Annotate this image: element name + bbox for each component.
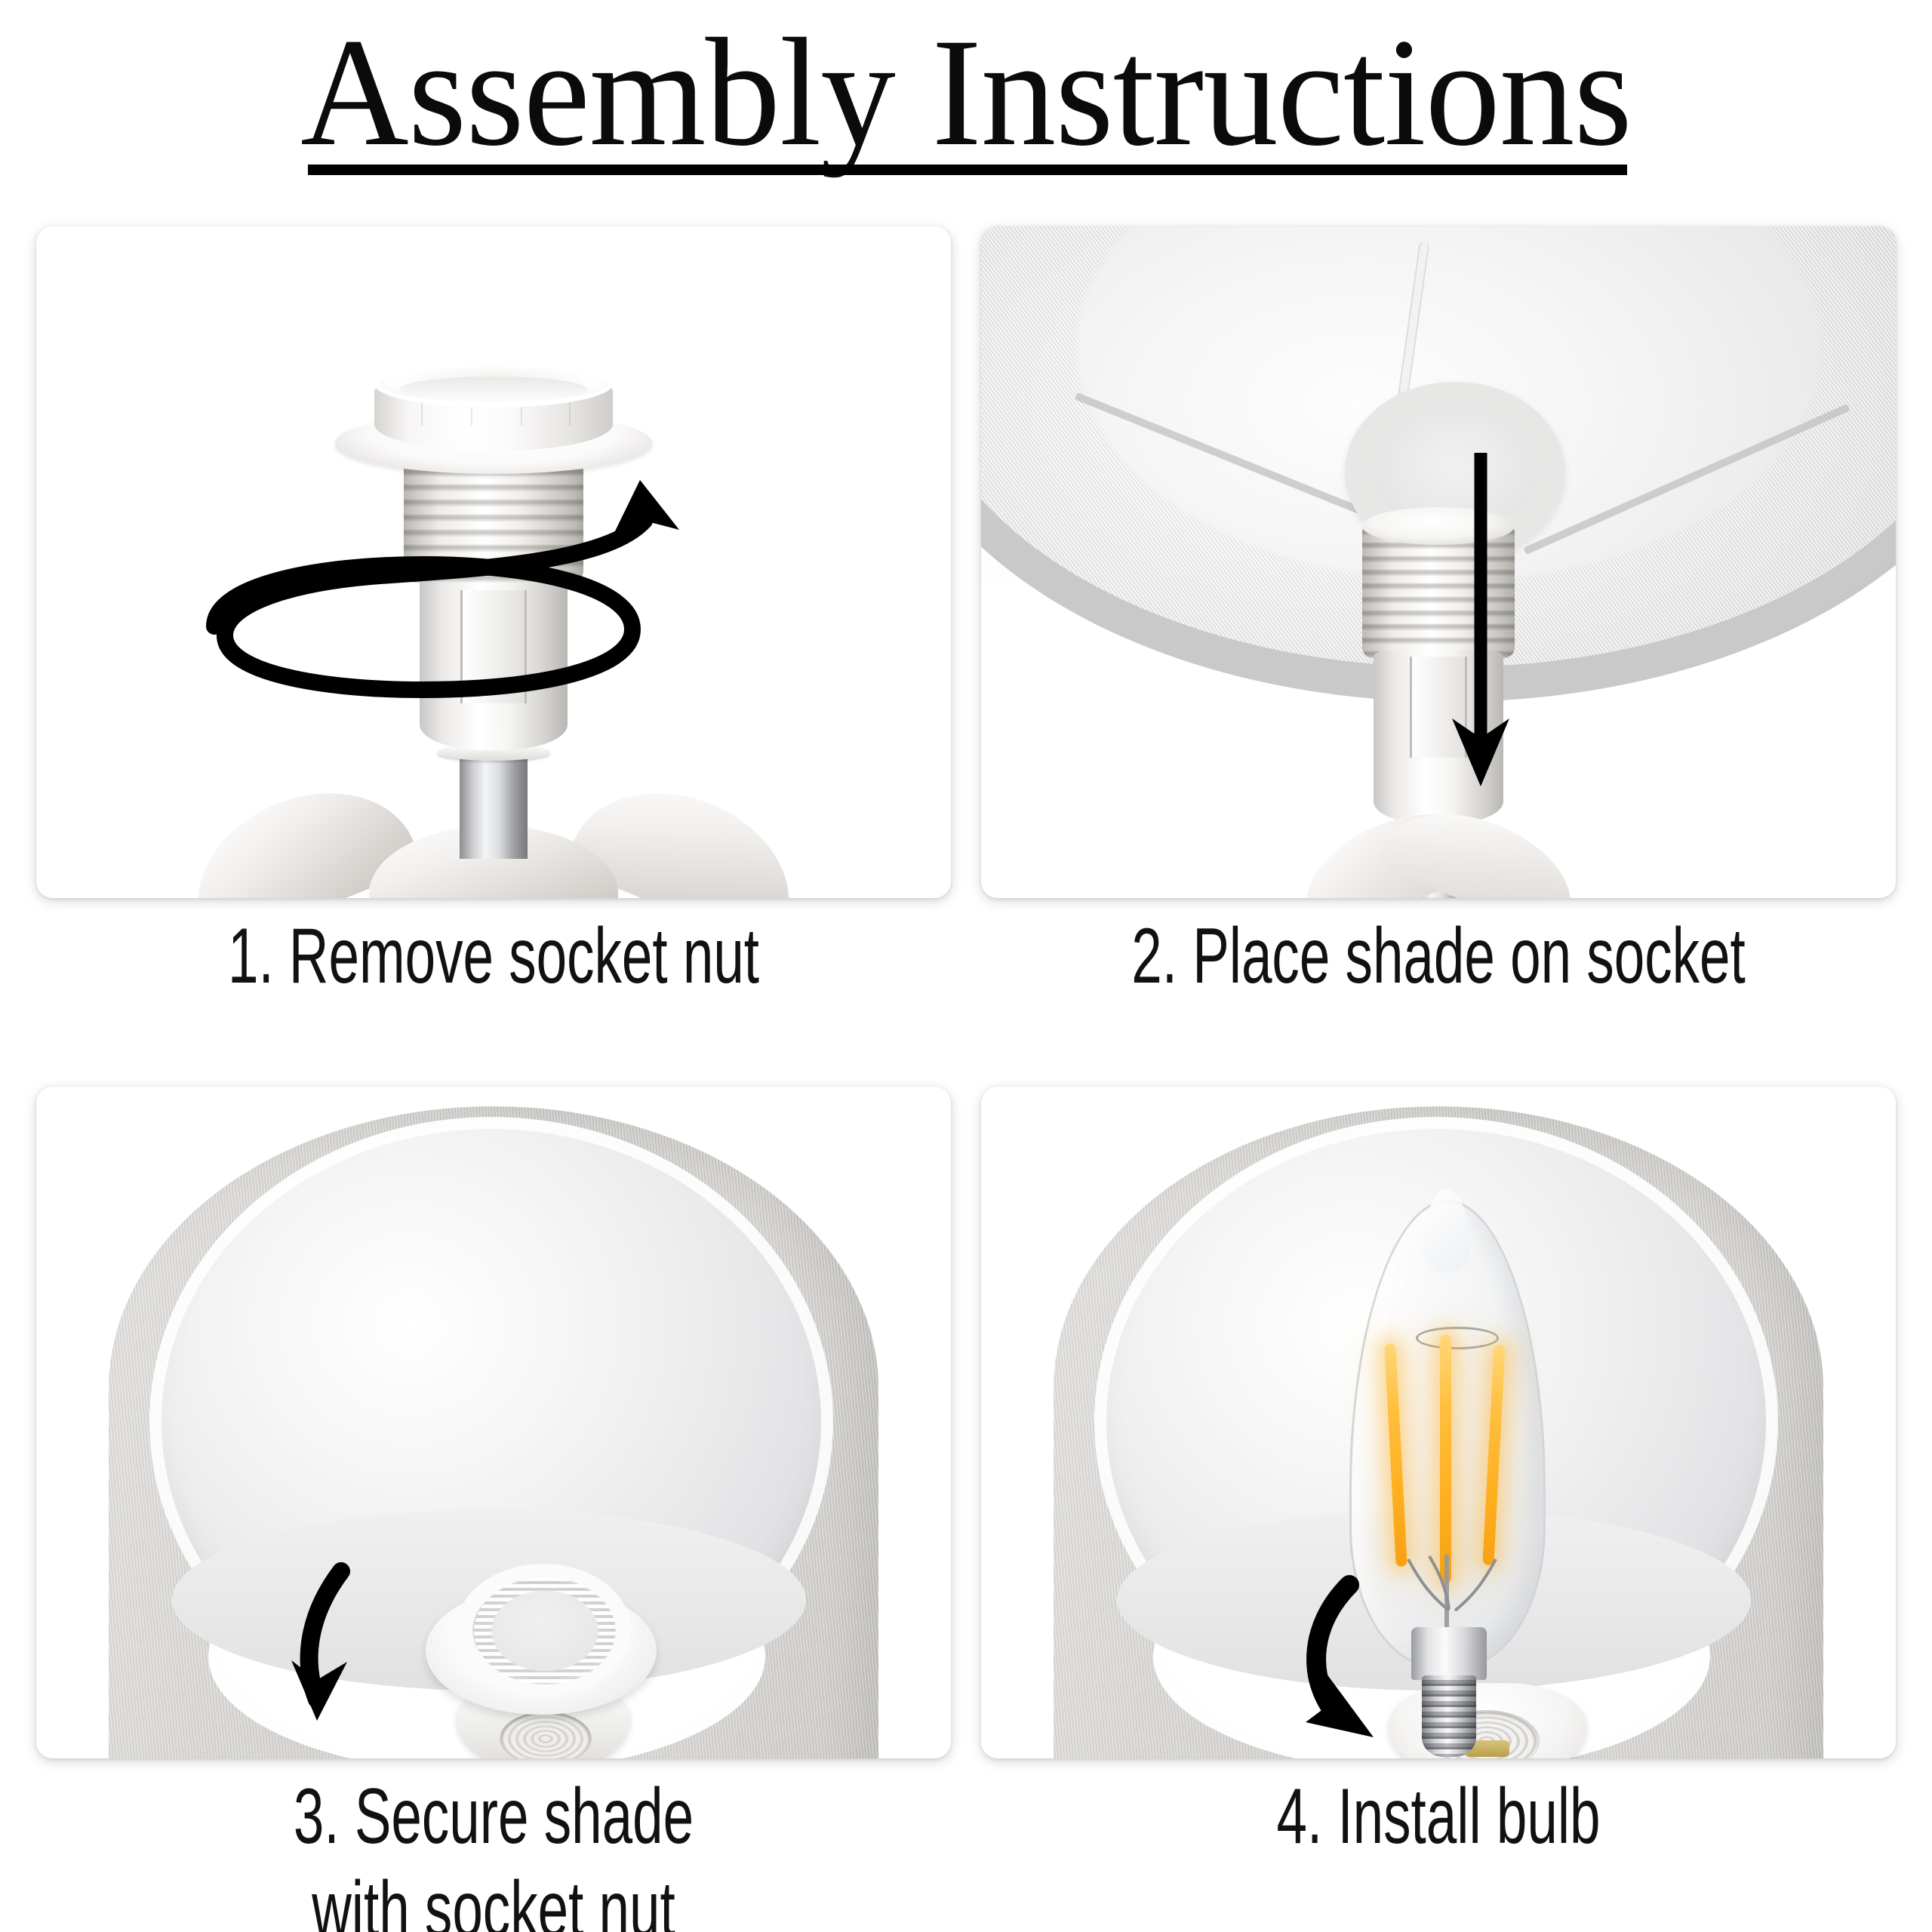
bulb-lead-wires <box>1399 1555 1505 1623</box>
socket-nut-rim <box>374 361 613 408</box>
step-3-panel[interactable] <box>36 1087 951 1758</box>
step-2-caption: 2. Place shade on socket <box>1118 910 1758 1003</box>
e14-screw-base <box>1422 1675 1476 1757</box>
threaded-socket-top <box>1362 507 1515 545</box>
socket-nut-ring <box>426 1564 657 1730</box>
step-1-caption: 1. Remove socket nut <box>174 910 814 1003</box>
step-3-caption: 3. Secure shade with socket nut <box>174 1770 814 1932</box>
assembly-instructions-page: Assembly Instructions <box>0 0 1932 1932</box>
filament-strip <box>1440 1334 1451 1583</box>
bulb-neck <box>1411 1627 1487 1680</box>
step-4-caption: 4. Install bulb <box>1118 1770 1758 1863</box>
steps-row-1: 1. Remove socket nut <box>0 226 1932 1079</box>
step-4-cell: 4. Install bulb <box>981 1087 1896 1932</box>
chrome-stem <box>460 753 528 859</box>
step-4-panel[interactable] <box>981 1087 1896 1758</box>
socket-nut-threads <box>474 1577 616 1684</box>
socket-body-seam <box>1410 657 1467 758</box>
bulb-tip-highlight <box>1423 1189 1470 1272</box>
step-1-panel[interactable] <box>36 226 951 898</box>
step-2-illustration <box>981 226 1896 898</box>
title-underline <box>308 165 1627 175</box>
step-2-cell: 2. Place shade on socket <box>981 226 1896 1079</box>
socket-assembly <box>1325 475 1552 898</box>
step-4-illustration <box>981 1087 1896 1758</box>
steps-grid: 1. Remove socket nut <box>0 226 1932 1932</box>
filament-support-ring <box>1416 1327 1499 1349</box>
page-title-wrap: Assembly Instructions <box>0 15 1932 170</box>
socket-body-seam <box>460 590 527 703</box>
step-3-illustration <box>36 1087 951 1758</box>
socket-nut-ring <box>335 361 652 474</box>
step-1-illustration <box>36 226 951 898</box>
step-1-cell: 1. Remove socket nut <box>36 226 951 1079</box>
socket-nut-hole <box>399 377 588 402</box>
step-3-cell: 3. Secure shade with socket nut <box>36 1087 951 1932</box>
page-title: Assembly Instructions <box>29 15 1903 170</box>
steps-row-2: 3. Secure shade with socket nut <box>0 1087 1932 1932</box>
led-candle-bulb <box>1334 1200 1561 1758</box>
step-2-panel[interactable] <box>981 226 1896 898</box>
